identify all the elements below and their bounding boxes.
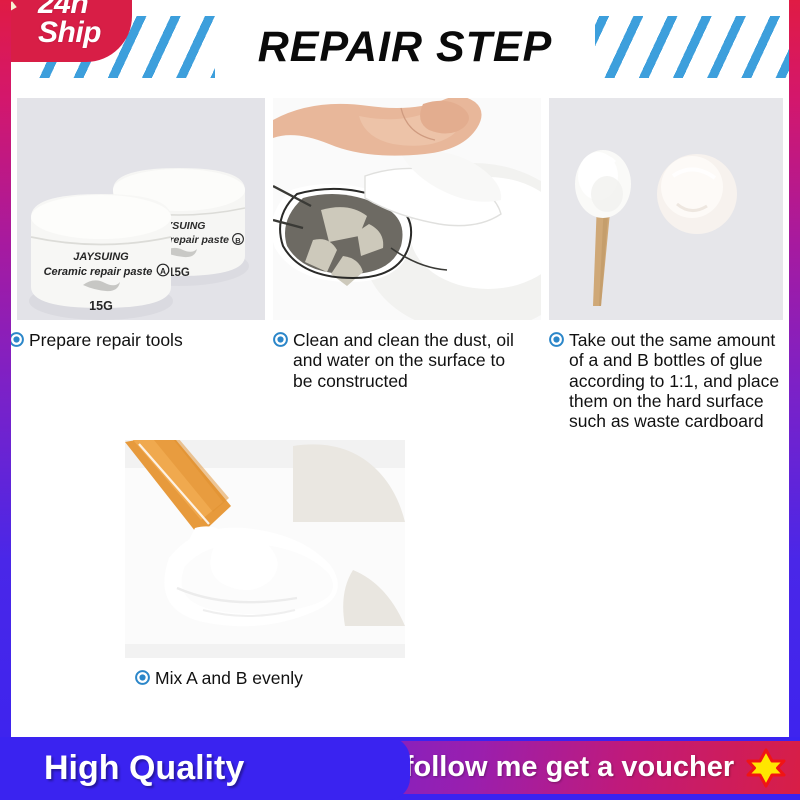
radio-bullet-icon [273, 332, 288, 347]
step-caption-text-1: Prepare repair tools [29, 330, 183, 350]
six-point-star-icon [746, 748, 786, 788]
radio-bullet-icon [135, 670, 150, 685]
right-gradient-border [789, 0, 800, 800]
page-title: REPAIR STEP [215, 16, 595, 78]
radio-bullet-icon [9, 332, 24, 347]
step-caption-4: Mix A and B evenly [135, 668, 405, 688]
diagonal-stripes-right [565, 16, 790, 78]
hand-cleaning-cracked-sink-photo [273, 98, 541, 320]
badge-text: 24h Ship [38, 0, 101, 48]
step-caption-1: Prepare repair tools [9, 330, 265, 350]
shipping-badge: 24h Ship [0, 0, 132, 62]
svg-text:JAYSUING: JAYSUING [73, 251, 129, 263]
radio-bullet-icon [549, 332, 564, 347]
svg-text:Ceramic repair paste: Ceramic repair paste [44, 266, 153, 278]
step-caption-text-3: Take out the same amount of a and B bott… [569, 330, 779, 431]
badge-line-2: Ship [38, 19, 101, 48]
quality-banner: High Quality [0, 737, 410, 800]
quality-text: High Quality [44, 749, 244, 788]
two-repair-paste-jars-photo: JAYSUING Ceramic repair paste B 15G JAYS… [17, 98, 265, 320]
voucher-text: follow me get a voucher [404, 751, 734, 784]
glue-on-stick-and-blob-photo [549, 98, 783, 320]
svg-text:15G: 15G [168, 267, 190, 279]
footer-banner: follow me get a voucher High Quality [0, 737, 800, 800]
svg-text:B: B [235, 236, 241, 245]
step-caption-2: Clean and clean the dust, oil and water … [273, 330, 545, 391]
product-infographic: REPAIR STEP 24h Ship [0, 0, 800, 800]
svg-text:15G: 15G [89, 299, 113, 313]
step-caption-text-4: Mix A and B evenly [155, 668, 303, 688]
step-caption-text-2: Clean and clean the dust, oil and water … [293, 330, 514, 391]
spatula-mixing-white-paste-photo [125, 440, 405, 658]
step-caption-3: Take out the same amount of a and B bott… [549, 330, 800, 431]
left-gradient-border [0, 0, 11, 800]
steps-content: JAYSUING Ceramic repair paste B 15G JAYS… [11, 92, 789, 737]
svg-text:A: A [160, 267, 166, 276]
